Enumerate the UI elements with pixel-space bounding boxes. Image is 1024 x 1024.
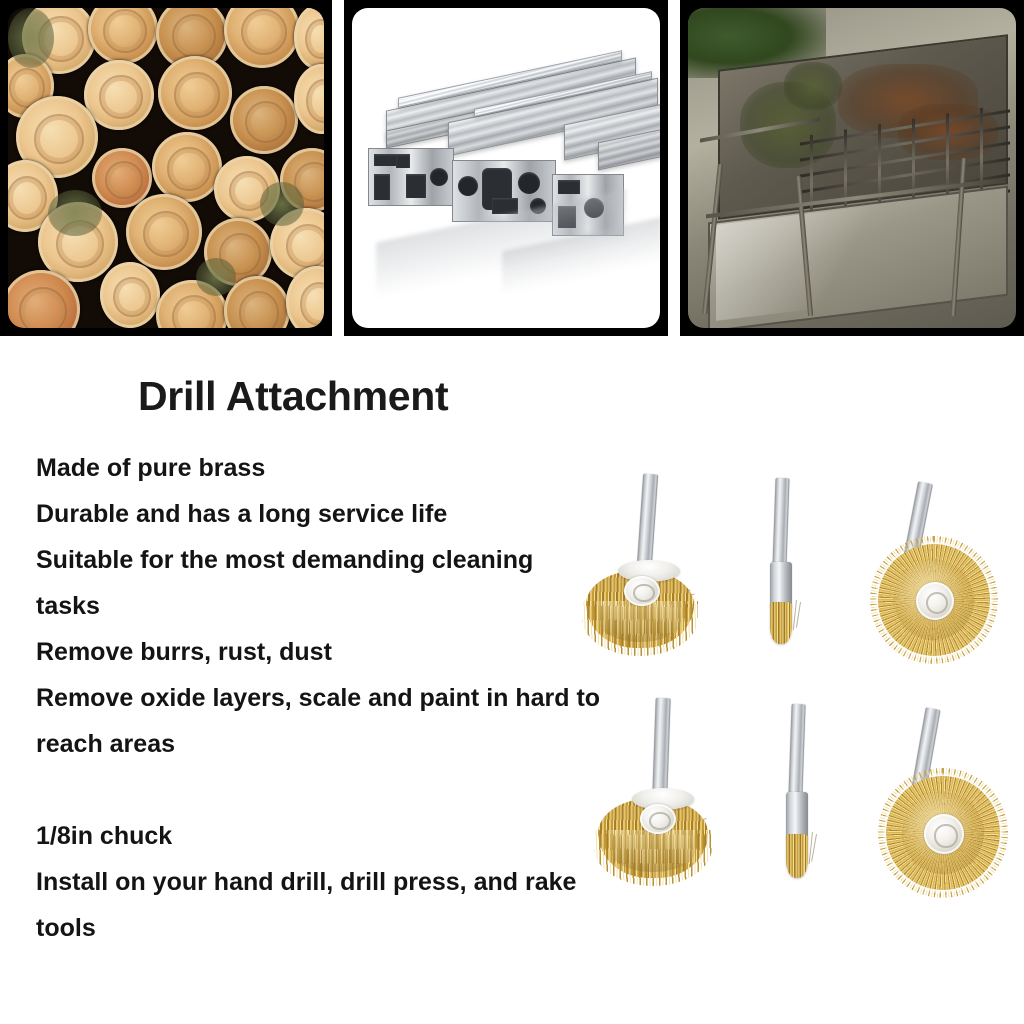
aluminium-extrusion-photo: [344, 0, 668, 336]
feature-line: Remove burrs, rust, dust: [36, 629, 636, 675]
brass-cup-brush-top-left: [574, 462, 704, 652]
dirty-grill-photo: [680, 0, 1024, 336]
brush-hub: [924, 814, 964, 854]
feature-line: Suitable for the most demanding cleaning: [36, 537, 636, 583]
brush-bristles: [786, 834, 808, 878]
brass-cup-brush-bottom-left: [584, 688, 714, 878]
feature-list: Made of pure brass Durable and has a lon…: [36, 445, 636, 951]
brush-hub: [624, 576, 660, 606]
brass-end-brush-bottom-middle: [772, 696, 842, 886]
feature-line: Install on your hand drill, drill press,…: [36, 859, 636, 905]
brush-hub: [916, 582, 954, 620]
brush-shank: [772, 478, 789, 566]
panel-divider-2: [668, 0, 680, 336]
brush-shank: [788, 704, 805, 796]
feature-line: Durable and has a long service life: [36, 491, 636, 537]
stacked-logs-photo: [0, 0, 332, 336]
brush-shank: [652, 698, 670, 794]
feature-line: 1/8in chuck: [36, 813, 636, 859]
brush-shank: [637, 474, 658, 567]
brass-wheel-brush-top-right: [872, 470, 1002, 660]
photo-strip: [0, 0, 1024, 336]
brush-hub: [640, 804, 676, 834]
feature-line: reach areas: [36, 721, 636, 767]
panel-divider-1: [332, 0, 344, 336]
brush-bristles: [770, 602, 792, 644]
feature-line: tasks: [36, 583, 636, 629]
page-title: Drill Attachment: [138, 373, 448, 420]
brass-wheel-brush-bottom-right: [878, 700, 1008, 890]
product-photo-group: [560, 440, 1024, 910]
feature-line: Remove oxide layers, scale and paint in …: [36, 675, 636, 721]
feature-line: tools: [36, 905, 636, 951]
feature-line: Made of pure brass: [36, 445, 636, 491]
brass-end-brush-top-middle: [756, 468, 826, 658]
